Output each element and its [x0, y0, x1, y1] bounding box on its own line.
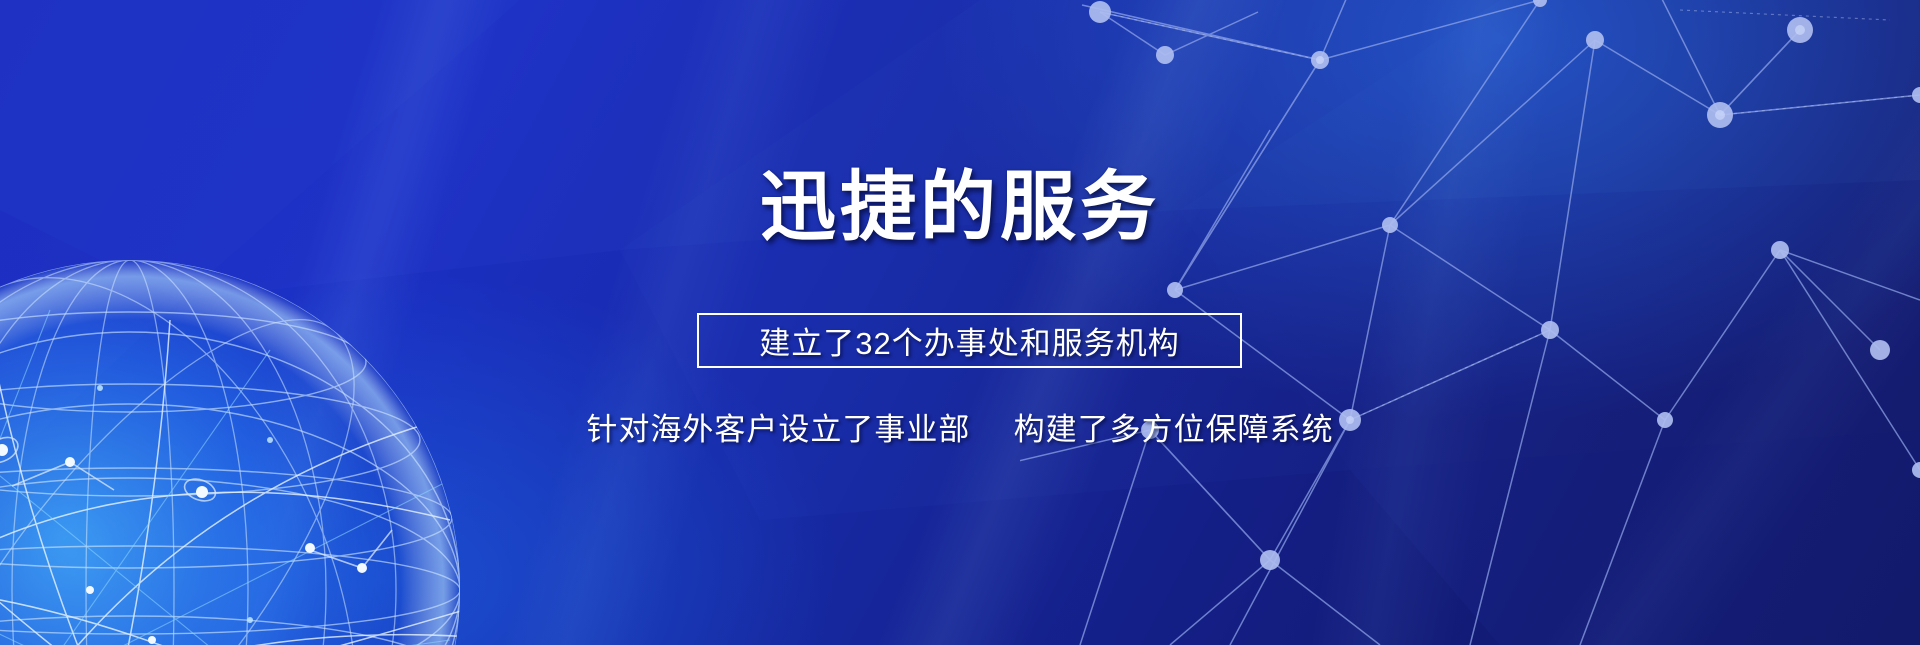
- boxed-statement: 建立了32个办事处和服务机构: [697, 313, 1242, 368]
- tagline-right-text: 构建了多方位保障系统: [1014, 412, 1334, 447]
- page-title: 迅捷的服务: [0, 168, 1920, 248]
- banner-content: 迅捷的服务 建立了32个办事处和服务机构 针对海外客户设立了事业部 构建了多方位…: [0, 0, 1920, 645]
- tagline: 针对海外客户设立了事业部 构建了多方位保障系统: [0, 404, 1920, 449]
- tagline-left-text: 针对海外客户设立了事业部: [586, 412, 970, 447]
- hero-banner: 迅捷的服务 建立了32个办事处和服务机构 针对海外客户设立了事业部 构建了多方位…: [0, 0, 1920, 645]
- boxed-statement-text: 建立了32个办事处和服务机构: [759, 318, 1179, 363]
